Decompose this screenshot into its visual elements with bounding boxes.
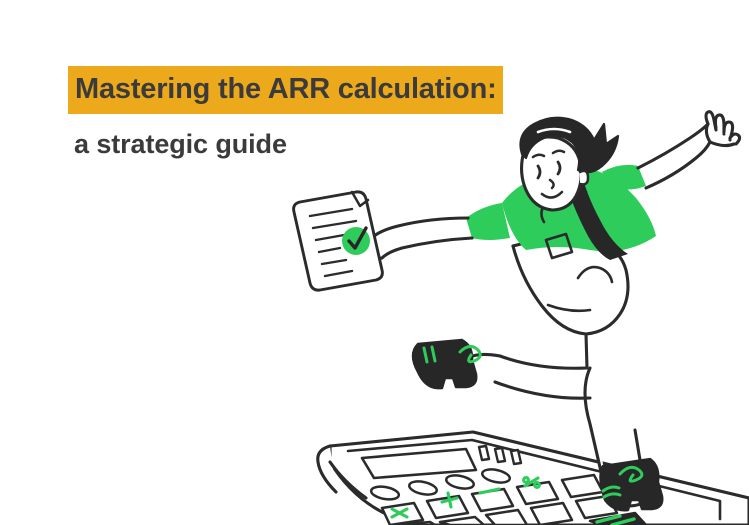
open-hand-icon	[706, 112, 740, 146]
banner: Mastering the ARR calculation: a strateg…	[0, 0, 749, 525]
illustration-person-jumping-on-calculator	[290, 110, 749, 525]
raised-arm	[638, 124, 710, 188]
page-subtitle: a strategic guide	[68, 131, 503, 158]
page-title: Mastering the ARR calculation:	[68, 66, 503, 114]
calculator-key	[472, 489, 513, 511]
headline-line: Mastering the ARR calculation:	[68, 66, 503, 114]
calculator-key	[517, 482, 558, 504]
illustration-svg	[290, 110, 749, 525]
calculator-key	[562, 475, 603, 497]
document-with-check-icon	[294, 192, 383, 290]
calculator	[318, 432, 749, 525]
headline-block: Mastering the ARR calculation: a strateg…	[68, 66, 503, 158]
calculator-key	[531, 503, 572, 525]
